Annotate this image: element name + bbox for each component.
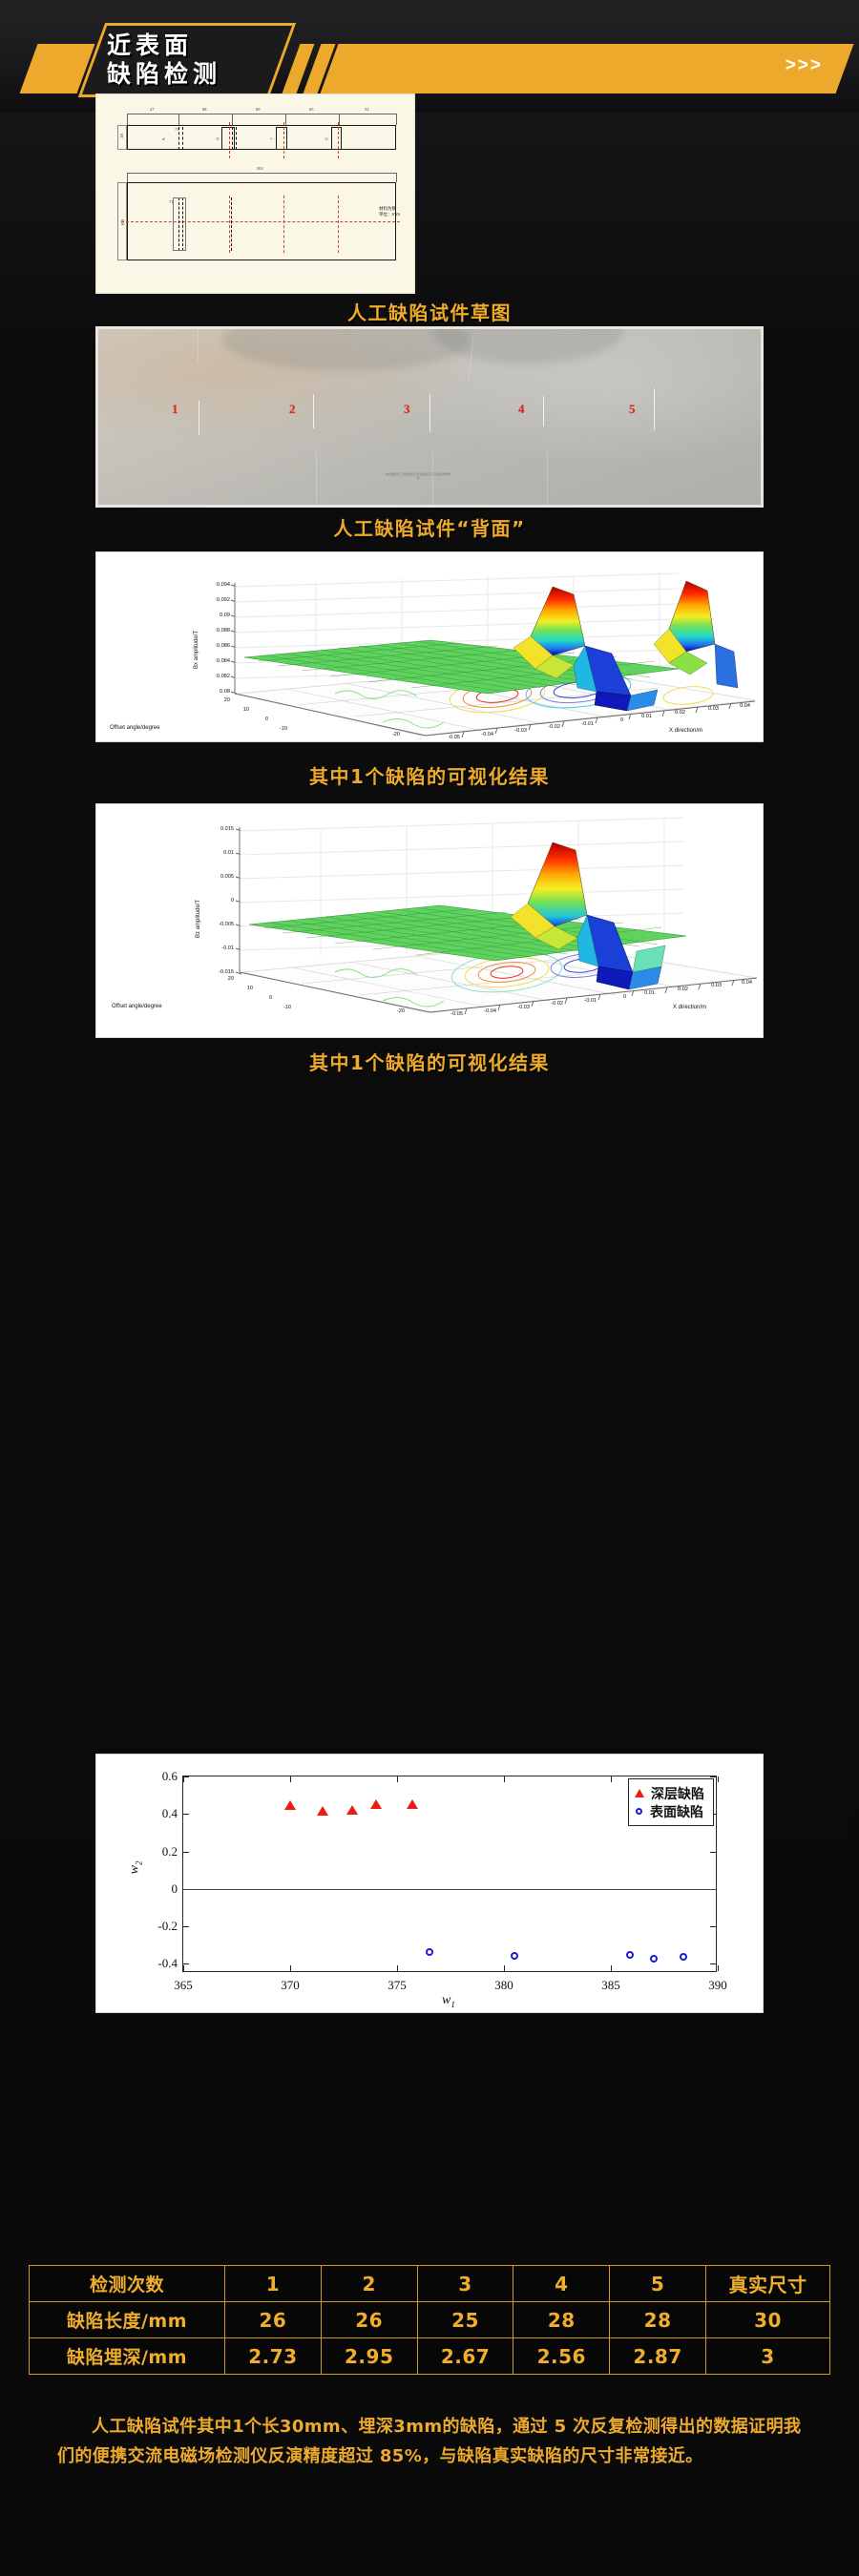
scatter-ytick-mark [183,1852,189,1853]
scatter-point-surface [426,1948,433,1956]
bx-xtick: 0.02 [664,710,685,716]
drawing-slot-label-4: 7 [270,137,275,139]
bx-xtick: -0.05 [435,735,460,740]
bx-ytick: -20 [383,732,400,737]
bz-ztick: -0.01 [205,945,234,951]
bz-xtick: -0.03 [505,1005,530,1010]
table-row-label-depth: 缺陷埋深/mm [30,2338,225,2375]
page-title-line2: 缺陷检测 [107,60,279,89]
scatter-xtick-mark [718,1965,719,1971]
scatter-ytick-mark [710,1852,716,1853]
drawing-plan-slot-box [173,197,186,251]
bx-xtick: -0.02 [535,724,560,730]
drawing-dim-tick [396,173,397,182]
table-cell: 5 [610,2266,706,2302]
scatter-xtick-label: 385 [601,1978,620,1993]
bz-ytick: 0 [255,995,272,1001]
table-cell: 1 [225,2266,322,2302]
bx-xtick: -0.03 [502,728,527,734]
bz-xtick: -0.01 [572,998,597,1004]
scatter-xtick-mark [397,1776,398,1782]
page-title-line1: 近表面 [107,31,279,60]
table-cell-truth: 3 [706,2338,830,2375]
drawing-centerline [229,122,230,158]
bx-ztick: 0.092 [203,597,230,603]
bz-ztick: 0.015 [205,826,234,832]
figure-specimen-photo: 1 2 3 4 5 本标准规定了无损检测人员资格鉴定与认证的通用规则 [95,326,764,508]
drawing-dim-tick [339,114,340,125]
scatter-point-surface [680,1953,687,1961]
scatter-point-surface [626,1951,634,1959]
scatter-xtick-label: 380 [494,1978,513,1993]
bx-zaxis-label: Bx amplitude/T [194,631,199,669]
bx-yaxis-label: Offset angle/degree [110,725,160,731]
drawing-note: 材料为钢 单位：mm [379,207,400,218]
scatter-ytick-label: 0.4 [162,1806,178,1821]
table-row: 检测次数 1 2 3 4 5 真实尺寸 [30,2266,830,2302]
drawing-dim-tick [127,114,128,125]
scatter-axes-frame: 0.6 0.4 0.2 0 -0.2 -0.4 365 370 375 [182,1776,717,1972]
bx-ytick: 20 [213,697,230,703]
table-cell: 2.87 [610,2338,706,2375]
drawing-slot-label-5: 6 [325,137,329,139]
scatter-xtick-label: 365 [174,1978,193,1993]
defect-number-2: 2 [289,402,296,417]
table-row: 缺陷埋深/mm 2.73 2.95 2.67 2.56 2.87 3 [30,2338,830,2375]
circle-marker-icon [636,1808,642,1815]
bz-ztick: -0.005 [205,922,234,927]
scatter-xtick-mark [718,1776,719,1782]
legend-item-surface-defect: 表面缺陷 [635,1802,704,1820]
drawing-dim-tick [232,114,233,125]
photo-scratch [316,451,317,507]
drawing-plan-label: 71 [169,199,174,204]
scatter-point-deep [284,1800,296,1810]
table-cell-truth: 真实尺寸 [706,2266,830,2302]
photo-shadow [432,326,623,364]
bz-xtick: 0.04 [731,980,752,986]
drawing-plan-centerline [121,221,400,222]
table-cell: 2.56 [513,2338,610,2375]
table-cell-truth: 30 [706,2302,830,2338]
drawing-dim-tick [285,114,286,125]
scatter-xtick-mark [504,1965,505,1971]
scatter-ytick-mark [183,1926,189,1927]
triangle-marker-icon [635,1789,644,1797]
bx-ytick: 0 [251,717,268,722]
drawing-slot-label-1: 71 [175,127,179,132]
bz-xtick: 0.03 [701,983,722,988]
figure-1-caption: 人工缺陷试件草图 [0,298,859,325]
table-header-label: 检测次数 [30,2266,225,2302]
bz-ytick: 10 [236,986,253,991]
poster-page: 近表面 缺陷检测 >>> 20 27 68 69 65 52 [0,0,859,2576]
drawing-slot-mark [236,127,237,150]
table-row-label-length: 缺陷长度/mm [30,2302,225,2338]
defect-mark-5 [654,388,655,430]
bx-xtick: -0.04 [469,732,493,737]
table-cell: 2.73 [225,2338,322,2375]
drawing-top-view-body [127,125,396,150]
bz-xtick: 0.01 [634,990,655,996]
scatter-zero-line [183,1889,716,1890]
scatter-ytick-label: 0 [172,1881,178,1897]
scatter-ytick-label: -0.4 [157,1956,178,1971]
drawing-dim-line-top [127,114,396,114]
scatter-legend: 深层缺陷 表面缺陷 [628,1778,714,1826]
drawing-plan-slot [283,196,284,253]
bx-ytick: 10 [232,707,249,713]
bz-ztick: -0.015 [205,969,234,975]
bx-xaxis-label: X direction/m [669,728,702,734]
scatter-xtick-mark [290,1776,291,1782]
bx-xtick: 0.03 [698,706,719,712]
bx-ztick: 0.082 [203,674,230,679]
bx-ztick: 0.088 [203,628,230,634]
scatter-xtick-mark [397,1965,398,1971]
bx-ztick: 0.08 [203,689,230,695]
scatter-ytick-label: 0.6 [162,1769,178,1784]
legend-label-surface-defect: 表面缺陷 [650,1802,703,1821]
drawing-slot-box [331,127,342,150]
figure-specimen-drawing: 20 27 68 69 65 52 71 9. 8 7 6 502 [95,93,415,294]
scatter-yaxis-label: w2 [128,1860,144,1874]
scatter-point-surface [511,1952,518,1960]
legend-label-deep-defect: 深层缺陷 [651,1784,704,1803]
bx-ztick: 0.094 [203,582,230,588]
table-cell: 2 [321,2266,417,2302]
bx-xtick: 0 [608,717,623,723]
table-cell: 3 [417,2266,513,2302]
drawing-dim-tick [127,173,128,182]
drawing-centerline [283,122,284,158]
table-cell: 28 [610,2302,706,2338]
bx-xtick: 0.04 [729,703,750,709]
drawing-plan-slot [229,196,230,253]
bx-xtick: 0.01 [631,714,652,719]
drawing-dim-2: 68 [202,107,207,112]
scatter-xtick-mark [504,1776,505,1782]
drawing-slot-label-2: 9. [161,137,166,140]
bz-xaxis-label: X direction/m [673,1005,706,1010]
scatter-xtick-mark [611,1965,612,1971]
scatter-xaxis-label: w1 [442,1993,455,2009]
figure-bx-surface-plot: Bx amplitude/T 0.094 0.092 0.09 0.088 0.… [95,551,764,742]
bz-zaxis-label: Bz amplitude/T [196,900,201,938]
defect-number-4: 4 [518,402,525,417]
table-cell: 4 [513,2266,610,2302]
bx-ztick: 0.084 [203,658,230,664]
scatter-ytick-label: 0.2 [162,1844,178,1859]
scatter-xtick-mark [611,1776,612,1782]
scatter-point-deep [317,1806,328,1816]
legend-item-deep-defect: 深层缺陷 [635,1784,704,1802]
bz-ztick: 0.01 [205,850,234,856]
drawing-plan-slot [231,197,232,251]
table-cell: 2.95 [321,2338,417,2375]
bz-xtick: -0.02 [538,1001,563,1007]
photo-scratch [547,451,548,507]
bx-xtick: -0.01 [569,721,594,727]
figure-2-caption: 人工缺陷试件“背面” [0,513,859,541]
table-cell: 28 [513,2302,610,2338]
drawing-slot-mark [182,127,183,150]
figure-4-caption: 其中1个缺陷的可视化结果 [0,1048,859,1075]
drawing-dim-4: 65 [309,107,314,112]
table-cell: 26 [225,2302,322,2338]
photo-scratch [198,329,199,362]
header-bar [321,44,854,93]
scatter-xtick-mark [183,1776,184,1782]
summary-paragraph: 人工缺陷试件其中1个长30mm、埋深3mm的缺陷，通过 5 次反复检测得出的数据… [57,2412,802,2471]
scatter-xtick-label: 390 [708,1978,727,1993]
table-row: 缺陷长度/mm 26 26 25 28 28 30 [30,2302,830,2338]
drawing-slot-label-3: 8 [216,137,220,139]
drawing-dim-tick [178,114,179,125]
defect-mark-2 [313,394,314,428]
drawing-centerline [338,122,339,158]
bx-ztick: 0.086 [203,643,230,649]
photo-stamp-text: 本标准规定了无损检测人员资格鉴定与认证的通用规则 [385,472,451,493]
scatter-point-deep [407,1799,418,1809]
figure-4-subfigure-label: (a) [420,790,429,800]
bz-xtick: 0 [611,994,626,1000]
drawing-dim-overall: 502 [257,166,263,171]
scatter-ytick-mark [710,1926,716,1927]
bz-ztick: 0 [205,898,234,904]
page-title: 近表面 缺陷检测 [107,25,279,95]
drawing-dim-line-overall [127,173,396,174]
chevron-right-icon: >>> [786,55,823,76]
scatter-point-deep [346,1805,358,1815]
scatter-ytick-label: -0.2 [157,1919,178,1934]
defect-number-1: 1 [172,402,178,417]
figure-bz-surface-plot: Bz amplitude/T 0.015 0.01 0.005 0 -0.005… [95,803,764,1038]
drawing-dim-1: 27 [150,107,155,112]
results-table: 检测次数 1 2 3 4 5 真实尺寸 缺陷长度/mm 26 26 25 28 … [29,2265,830,2375]
defect-mark-3 [429,394,430,432]
table-cell: 26 [321,2302,417,2338]
bz-xtick: -0.04 [471,1008,496,1014]
scatter-xtick-label: 370 [281,1978,300,1993]
bz-yaxis-label: Offset angle/degree [112,1004,162,1009]
table-cell: 2.67 [417,2338,513,2375]
bz-xtick: -0.05 [438,1011,463,1017]
scatter-xtick-label: 375 [388,1978,407,1993]
drawing-slot-box [276,127,287,150]
bz-xtick: 0.02 [667,987,688,992]
defect-number-3: 3 [404,402,410,417]
bz-ytick: 20 [217,976,234,982]
defect-mark-4 [543,396,544,426]
bz-ytick: -20 [388,1008,405,1014]
bz-ytick: -10 [274,1005,291,1010]
drawing-plan-slot [338,196,339,253]
table-cell: 25 [417,2302,513,2338]
scatter-point-surface [650,1955,658,1963]
scatter-ytick-mark [183,1814,189,1815]
figure-3-caption: 其中1个缺陷的可视化结果 [0,761,859,789]
drawing-dim-5: 52 [365,107,369,112]
drawing-slot-box [221,127,235,150]
drawing-dim-thickness: 20 [119,134,124,138]
bz-ztick: 0.005 [205,874,234,880]
scatter-ytick-mark [710,1776,716,1777]
scatter-xtick-mark [290,1965,291,1971]
bx-ztick: 0.09 [203,613,230,618]
scatter-xtick-mark [183,1965,184,1971]
drawing-note-line2: 单位：mm [379,213,400,218]
scatter-point-deep [370,1799,382,1809]
drawing-dim-3: 69 [256,107,261,112]
defect-mark-1 [199,401,199,435]
scatter-ytick-mark [710,1963,716,1964]
drawing-dim-tick [396,114,397,125]
bx-ytick: -10 [270,726,287,732]
figure-feature-scatter-plot: 0.6 0.4 0.2 0 -0.2 -0.4 365 370 375 [95,1754,764,2013]
defect-number-5: 5 [629,402,636,417]
